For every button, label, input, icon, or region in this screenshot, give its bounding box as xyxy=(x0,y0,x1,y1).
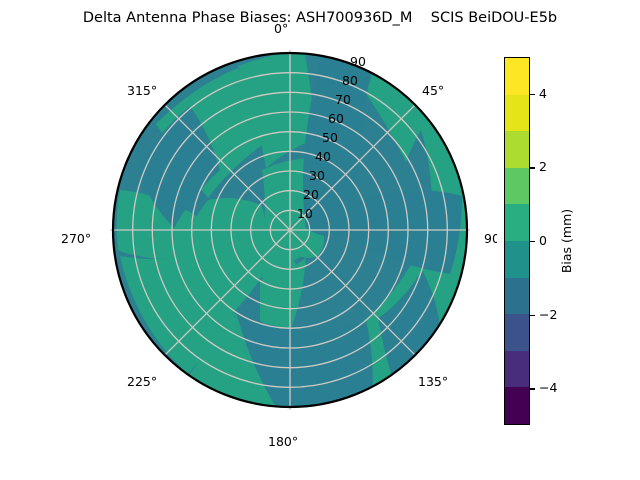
colorbar-tick-label: −4 xyxy=(539,381,557,395)
colorbar-band xyxy=(505,241,529,278)
colorbar-tick-label: 4 xyxy=(539,87,547,101)
colorbar-band xyxy=(505,95,529,132)
r-label-40: 40 xyxy=(315,150,331,164)
r-label-20: 20 xyxy=(303,188,319,202)
theta-label-315: 315° xyxy=(127,84,157,98)
colorbar-tick xyxy=(530,315,535,316)
colorbar-band xyxy=(505,351,529,388)
colorbar[interactable]: 420−2−4 xyxy=(504,57,530,425)
colorbar-tick-label: 0 xyxy=(539,234,547,248)
r-label-50: 50 xyxy=(322,131,338,145)
polar-data-disc xyxy=(110,50,470,410)
colorbar-tick xyxy=(530,167,535,168)
chart-title: Delta Antenna Phase Biases: ASH700936D_M… xyxy=(0,8,640,28)
colorbar-tick xyxy=(530,241,535,242)
r-label-10: 10 xyxy=(297,207,313,221)
polar-plot: 0° 45° 90 135° 180° 225° 270° 315° 10 20… xyxy=(110,50,470,410)
colorbar-tick xyxy=(530,388,535,389)
colorbar-gap-mask xyxy=(497,50,504,432)
r-label-60: 60 xyxy=(328,112,344,126)
colorbar-axis-label: Bias (mm) xyxy=(560,209,574,273)
colorbar-tick xyxy=(530,94,535,95)
theta-label-225: 225° xyxy=(127,375,157,389)
colorbar-band xyxy=(505,204,529,241)
theta-label-180: 180° xyxy=(268,435,298,449)
colorbar-gradient[interactable] xyxy=(504,57,530,425)
colorbar-band xyxy=(505,131,529,168)
colorbar-band xyxy=(505,278,529,315)
colorbar-band xyxy=(505,168,529,205)
polar-grid xyxy=(110,50,470,410)
theta-label-270: 270° xyxy=(61,232,91,246)
colorbar-band xyxy=(505,58,529,95)
r-label-90: 90 xyxy=(350,55,366,69)
theta-label-45: 45° xyxy=(422,84,444,98)
r-label-70: 70 xyxy=(335,93,351,107)
colorbar-tick-label: −2 xyxy=(539,308,557,322)
theta-label-0: 0° xyxy=(274,22,288,36)
polar-heatmap-svg xyxy=(110,50,470,410)
colorbar-band xyxy=(505,387,529,424)
colorbar-tick-label: 2 xyxy=(539,160,547,174)
colorbar-band xyxy=(505,314,529,351)
r-label-80: 80 xyxy=(342,74,358,88)
r-label-30: 30 xyxy=(309,169,325,183)
theta-label-135: 135° xyxy=(418,375,448,389)
